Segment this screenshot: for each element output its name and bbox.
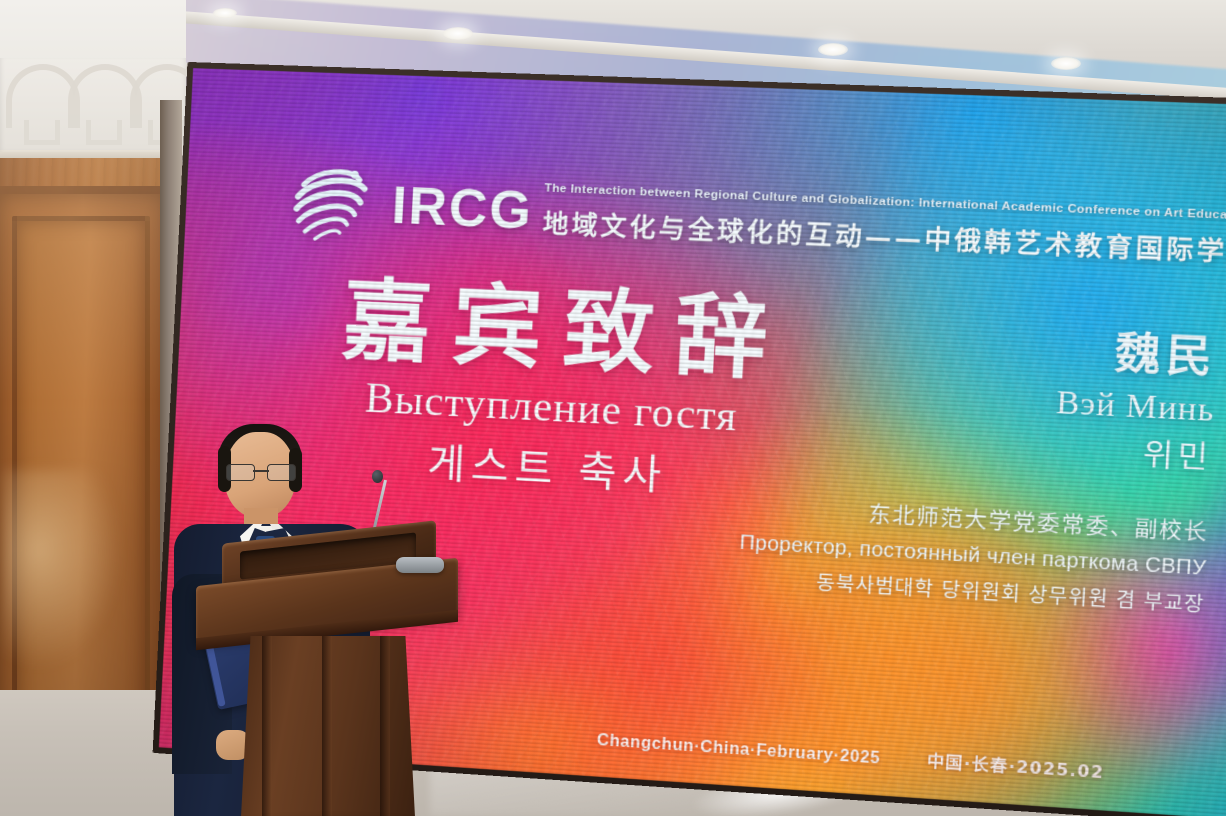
downlight-icon: [1051, 57, 1081, 70]
arch-foot-motif: [24, 120, 60, 145]
wall-light-reflection: [2, 470, 122, 670]
microphone-icon: [372, 470, 383, 483]
session-title-chinese: 嘉宾致辞: [287, 269, 828, 390]
conference-photo-scene: IRCG The Interaction between Regional Cu…: [0, 0, 1226, 816]
ircg-logo: IRCG: [289, 158, 536, 255]
speaker-name-block: 魏民 Вэй Минь 위민: [760, 302, 1219, 477]
glasses-bridge: [253, 470, 269, 472]
event-footer: Changchun·China·February·2025 中国·长春·2025…: [596, 726, 1105, 784]
podium-groove: [322, 636, 332, 816]
globe-swirl-icon: [289, 158, 380, 248]
glasses-icon: [226, 464, 296, 480]
downlight-icon: [443, 27, 473, 40]
speaker-role-block: 东北师范大学党委常委、副校长 Проректор, постоянный чле…: [690, 488, 1209, 618]
podium-groove: [380, 636, 390, 816]
podium-groove: [262, 636, 272, 816]
footer-location-english: Changchun·China·February·2025: [596, 732, 880, 769]
podium: [196, 532, 458, 816]
ircg-logo-text: IRCG: [390, 175, 534, 242]
left-ceiling-section: [0, 0, 186, 162]
conference-name-block: The Interaction between Regional Culture…: [542, 182, 1226, 271]
downlight-icon: [213, 8, 237, 18]
downlight-icon: [818, 43, 848, 56]
lens-left: [226, 464, 255, 481]
lens-right: [267, 464, 296, 481]
footer-location-chinese: 中国·长春·2025.02: [926, 747, 1104, 783]
arch-foot-motif: [86, 120, 122, 145]
decorative-arch-moulding: [0, 58, 186, 156]
microphone-base: [396, 557, 444, 573]
